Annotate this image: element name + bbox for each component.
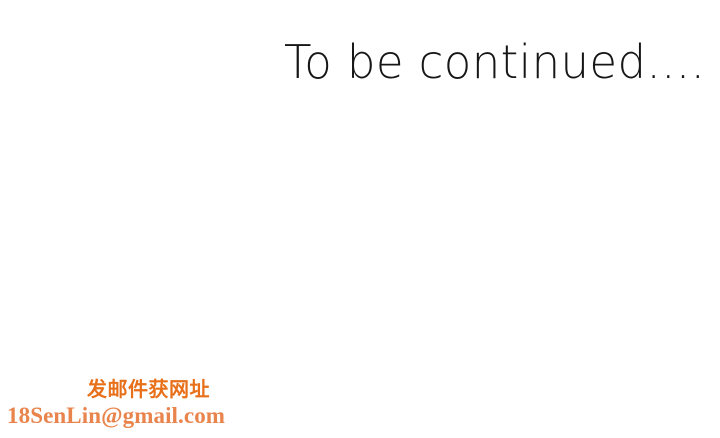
page-canvas: To be continued.... 发邮件获网址 18SenLin@gmai… (0, 0, 720, 438)
watermark-email-address: 18SenLin@gmail.com (7, 403, 225, 428)
watermark: 发邮件获网址 18SenLin@gmail.com (0, 378, 260, 438)
watermark-chinese-text: 发邮件获网址 (87, 378, 210, 400)
page-title: To be continued.... (284, 38, 705, 86)
